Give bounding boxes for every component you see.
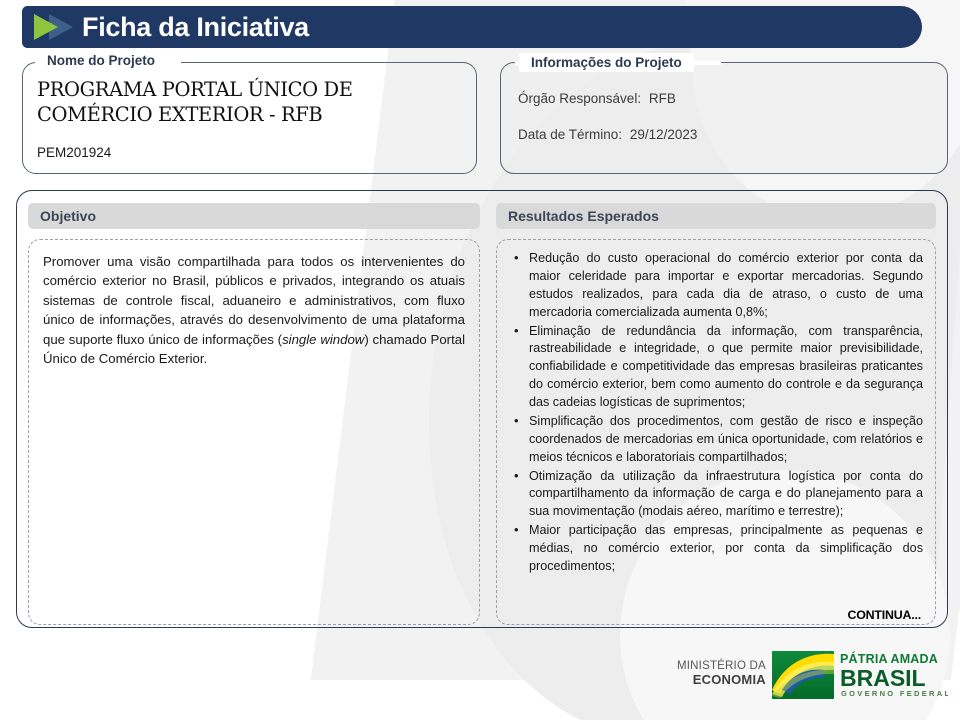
info-value-orgao: RFB: [649, 91, 676, 106]
list-item: Eliminação de redundância da informação,…: [527, 323, 923, 412]
continua-label: CONTINUA...: [847, 608, 921, 622]
info-value-data-termino: 29/12/2023: [630, 127, 698, 142]
project-title: PROGRAMA PORTAL ÚNICO DE COMÉRCIO EXTERI…: [37, 77, 460, 128]
logo-main-text: BRASIL: [840, 665, 926, 691]
patria-amada-brasil-logo: PÁTRIA AMADA BRASIL GOVERNO FEDERAL: [772, 650, 948, 702]
list-item: Otimização da utilização da infraestrutu…: [527, 468, 923, 522]
list-item: Simplificação dos procedimentos, com ges…: [527, 413, 923, 467]
project-info-box: Informações do Projeto Órgão Responsável…: [500, 62, 948, 174]
resultados-heading: Resultados Esperados: [508, 208, 659, 224]
project-code: PEM201924: [37, 145, 111, 160]
ministerio-economia-logo: MINISTÉRIO DA ECONOMIA: [677, 660, 766, 688]
objetivo-panel: Objetivo Promover uma visão compartilhad…: [28, 203, 480, 625]
info-row-orgao: Órgão Responsável: RFB: [518, 91, 676, 106]
list-item: Maior participação das empresas, princip…: [527, 522, 923, 576]
project-name-legend: Nome do Projeto: [39, 53, 163, 68]
brazil-flag-graphic: [772, 651, 834, 699]
header-banner: Ficha da Iniciativa: [22, 6, 922, 48]
objetivo-text: Promover uma visão compartilhada para to…: [43, 252, 465, 368]
resultados-panel: Resultados Esperados Redução do custo op…: [496, 203, 936, 625]
logo-sub-text: GOVERNO FEDERAL: [841, 689, 948, 698]
page-title: Ficha da Iniciativa: [82, 12, 309, 43]
info-label-orgao: Órgão Responsável:: [518, 91, 641, 106]
resultados-body: Redução do custo operacional do comércio…: [496, 239, 936, 625]
resultados-list: Redução do custo operacional do comércio…: [509, 250, 923, 576]
ministerio-line-2: ECONOMIA: [677, 673, 766, 688]
project-name-box: Nome do Projeto PROGRAMA PORTAL ÚNICO DE…: [22, 62, 477, 174]
objetivo-header: Objetivo: [28, 203, 480, 229]
project-info-legend: Informações do Projeto: [519, 53, 694, 72]
logo-top-text: PÁTRIA AMADA: [840, 651, 938, 666]
info-row-data-termino: Data de Término: 29/12/2023: [518, 127, 697, 142]
resultados-header: Resultados Esperados: [496, 203, 936, 229]
objetivo-text-italic: single window: [282, 332, 364, 347]
objetivo-body: Promover uma visão compartilhada para to…: [28, 239, 480, 625]
objetivo-heading: Objetivo: [40, 208, 96, 224]
list-item: Redução do custo operacional do comércio…: [527, 250, 923, 322]
play-triangle-icon: [32, 13, 76, 41]
info-label-data-termino: Data de Término:: [518, 127, 622, 142]
